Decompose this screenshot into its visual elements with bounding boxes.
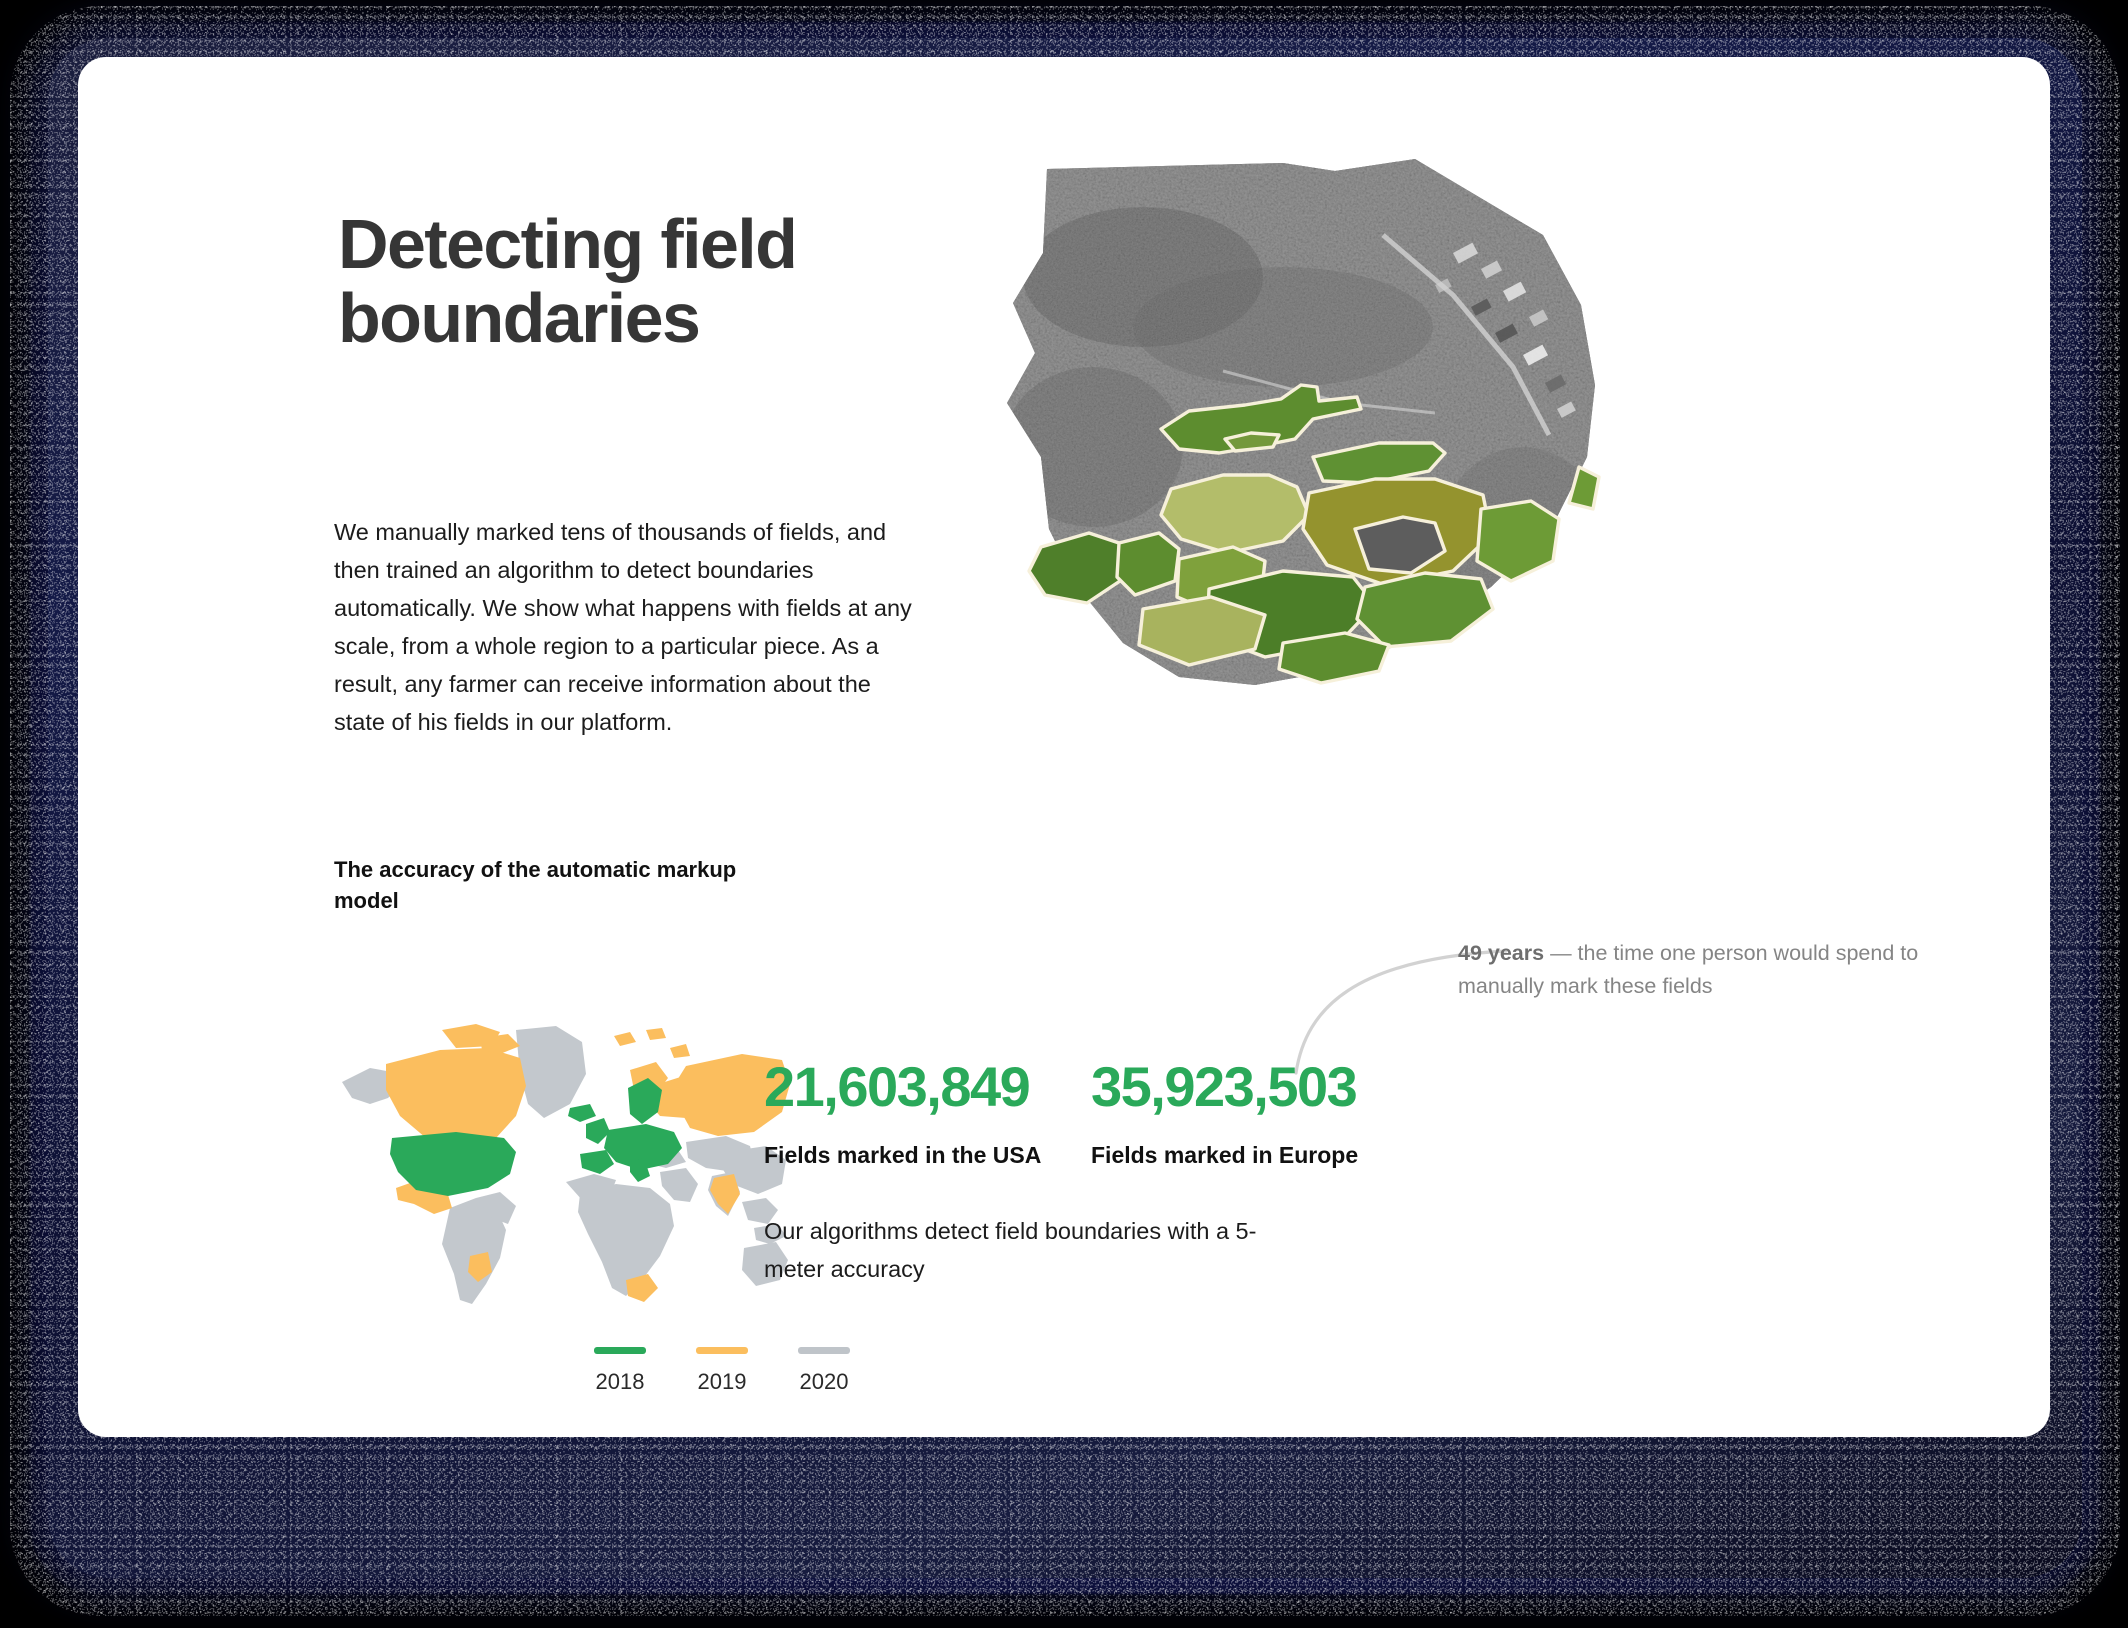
legend-label: 2019 <box>690 1369 754 1395</box>
aerial-field-boundaries-image <box>983 157 1613 702</box>
legend-swatch-2019 <box>696 1347 748 1354</box>
annotation-connector-curve <box>1238 757 1538 1077</box>
legend-swatch-2020 <box>798 1347 850 1354</box>
stat-value: 21,603,849 <box>764 1059 1041 1115</box>
page-title: Detecting field boundaries <box>338 207 1038 355</box>
slide-card: Detecting field boundaries We manually m… <box>78 57 2050 1437</box>
stat-fields-usa: 21,603,849 Fields marked in the USA <box>764 1059 1041 1169</box>
legend-item[interactable]: 2020 <box>792 1347 856 1395</box>
intro-paragraph: We manually marked tens of thousands of … <box>334 513 914 741</box>
annotation-emphasis: 49 years <box>1458 941 1544 965</box>
legend-item[interactable]: 2018 <box>588 1347 652 1395</box>
world-map-chart <box>330 1012 790 1312</box>
annotation-dash: — <box>1544 941 1577 965</box>
stat-label: Fields marked in the USA <box>764 1142 1041 1169</box>
annotation-49-years: 49 years — the time one person would spe… <box>1458 937 1998 1004</box>
map-legend: 2018 2019 2020 <box>588 1347 868 1395</box>
legend-item[interactable]: 2019 <box>690 1347 754 1395</box>
legend-label: 2018 <box>588 1369 652 1395</box>
closing-note: Our algorithms detect field boundaries w… <box>764 1212 1304 1288</box>
stat-value: 35,923,503 <box>1091 1059 1358 1115</box>
stat-label: Fields marked in Europe <box>1091 1142 1358 1169</box>
legend-swatch-2018 <box>594 1347 646 1354</box>
accuracy-section-title: The accuracy of the automatic markup mod… <box>334 854 754 916</box>
legend-label: 2020 <box>792 1369 856 1395</box>
stat-fields-europe: 35,923,503 Fields marked in Europe <box>1091 1059 1358 1169</box>
